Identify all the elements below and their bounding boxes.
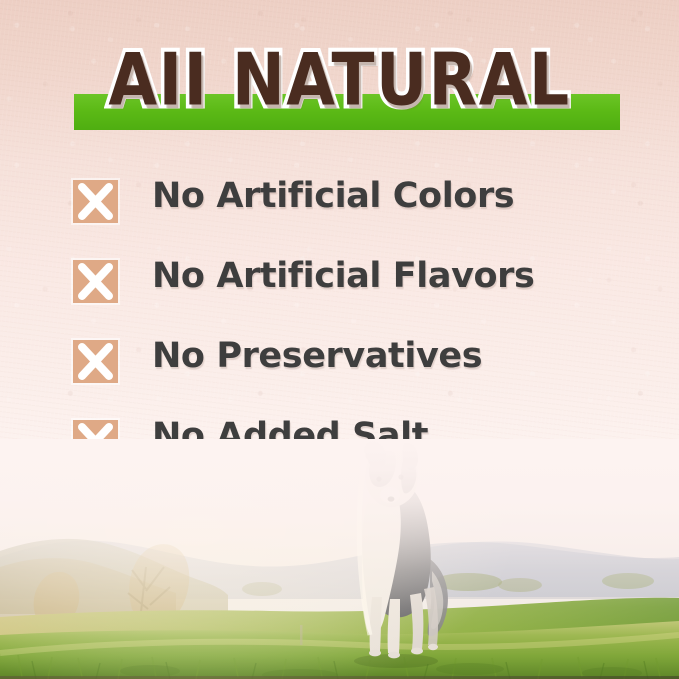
list-item: No Artificial Flavors [73, 260, 633, 340]
x-mark-icon [73, 180, 118, 223]
claim-label: No Preservatives [152, 336, 482, 376]
list-item: No Artificial Colors [73, 180, 633, 260]
x-mark-icon [73, 340, 118, 383]
lifestyle-photo [0, 439, 679, 679]
product-feature-poster: AII NATURAL No Artificial Colors No Arti… [0, 0, 679, 679]
claim-label: No Artificial Colors [152, 176, 514, 216]
list-item: No Preservatives [73, 340, 633, 420]
page-title: AII NATURAL [0, 44, 679, 116]
claim-label: No Artificial Flavors [152, 256, 534, 296]
x-mark-icon [73, 260, 118, 303]
